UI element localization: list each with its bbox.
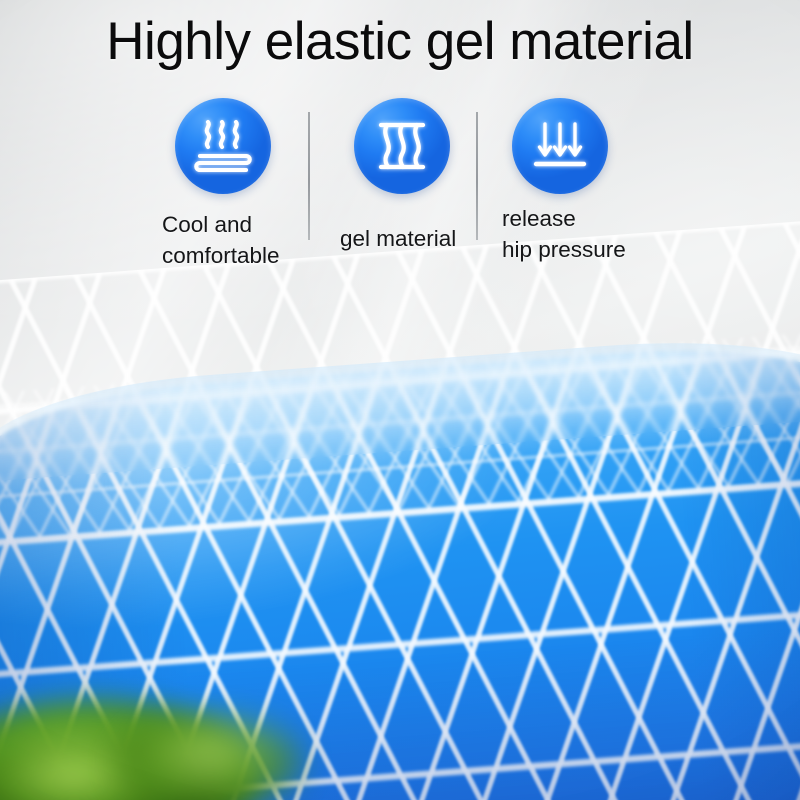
feature-item-cool-and-comfortable: Cool and comfortable bbox=[160, 98, 295, 271]
feature-label: gel material bbox=[340, 224, 482, 255]
steam-cool-icon bbox=[175, 98, 271, 194]
elastic-wave-icon bbox=[354, 98, 450, 194]
feature-item-release-hip-pressure: release hip pressure bbox=[500, 98, 660, 265]
product-marketing-banner: Highly elastic gel material bbox=[0, 0, 800, 800]
feature-label: Cool and comfortable bbox=[162, 210, 295, 271]
feature-label-line1: Cool and bbox=[162, 210, 295, 241]
feature-label-line2: hip pressure bbox=[502, 235, 660, 266]
downward-pressure-arrows-icon bbox=[512, 98, 608, 194]
feature-icon-badge bbox=[354, 98, 450, 194]
feature-list: Cool and comfortable gel material bbox=[160, 98, 660, 268]
feature-label-line1: gel material bbox=[340, 224, 482, 255]
feature-divider-1 bbox=[308, 112, 310, 240]
feature-icon-badge bbox=[512, 98, 608, 194]
feature-label-line2: comfortable bbox=[162, 241, 295, 272]
feature-label: release hip pressure bbox=[502, 204, 660, 265]
feature-label-line1: release bbox=[502, 204, 660, 235]
feature-icon-badge bbox=[175, 98, 271, 194]
page-title: Highly elastic gel material bbox=[0, 14, 800, 70]
foliage-leaf-small bbox=[120, 718, 300, 800]
feature-item-gel-material: gel material bbox=[332, 98, 482, 255]
